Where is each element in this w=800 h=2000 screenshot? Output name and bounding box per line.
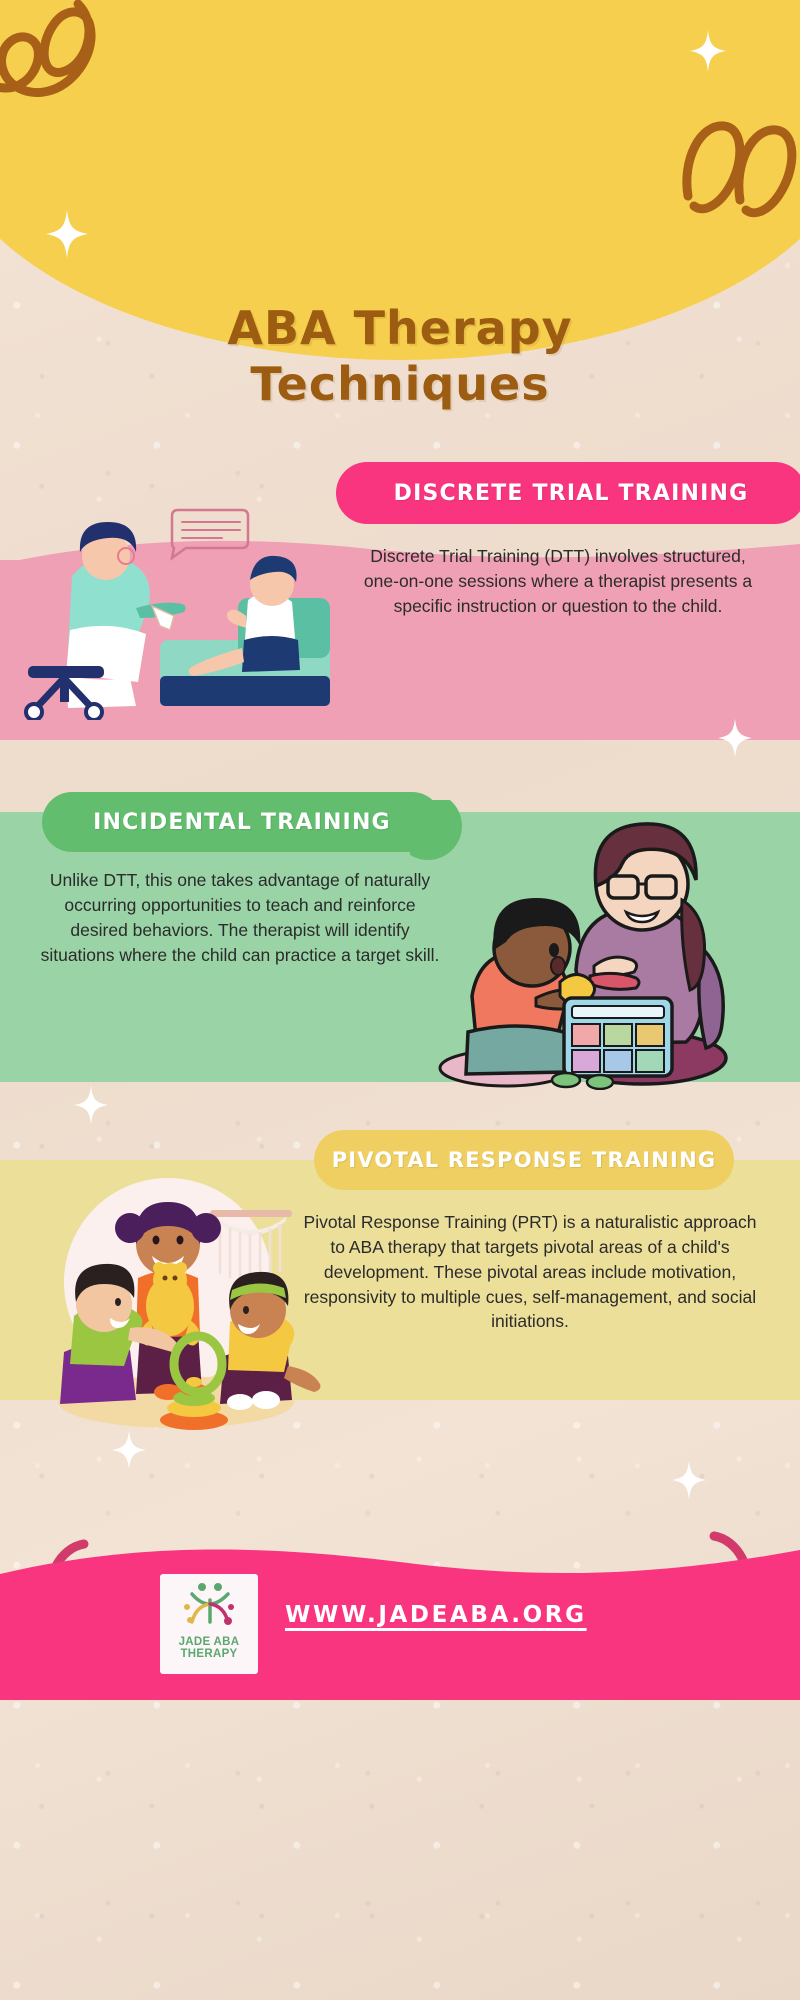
illustration-therapist-and-child-on-couch xyxy=(10,480,330,720)
page-title-line-1: ABA Therapy xyxy=(227,301,572,355)
brand-logo-line-1: JADE ABA xyxy=(179,1636,240,1648)
sparkle-icon-6 xyxy=(672,1460,706,1500)
section-body-incidental-training: Unlike DTT, this one takes advantage of … xyxy=(38,868,442,967)
illustration-three-children-playing-with-toys xyxy=(18,1170,328,1430)
footer: JADE ABA THERAPY WWW.JADEABA.ORG xyxy=(0,1540,800,1700)
page-title-line-2: Techniques xyxy=(0,356,800,412)
brand-logo-text: JADE ABA THERAPY xyxy=(179,1636,240,1661)
section-body-discrete-trial-training: Discrete Trial Training (DTT) involves s… xyxy=(358,544,758,619)
section-label-pivotal-response-training[interactable]: PIVOTAL RESPONSE TRAINING xyxy=(314,1130,734,1190)
section-label-discrete-trial-training[interactable]: DISCRETE TRIAL TRAINING xyxy=(336,462,800,524)
jade-aba-therapy-logo-icon xyxy=(178,1580,240,1634)
website-url-link[interactable]: WWW.JADEABA.ORG xyxy=(285,1602,587,1628)
page-title: ABA Therapy Techniques xyxy=(0,300,800,412)
section-label-incidental-training[interactable]: INCIDENTAL TRAINING xyxy=(42,792,442,852)
brand-logo[interactable]: JADE ABA THERAPY xyxy=(160,1574,258,1674)
illustration-therapist-with-communication-board xyxy=(410,800,760,1090)
section-body-pivotal-response-training: Pivotal Response Training (PRT) is a nat… xyxy=(300,1210,760,1334)
brand-logo-line-2: THERAPY xyxy=(180,1648,237,1660)
sparkle-icon-4 xyxy=(74,1085,108,1125)
sparkle-icon-5 xyxy=(112,1430,146,1470)
